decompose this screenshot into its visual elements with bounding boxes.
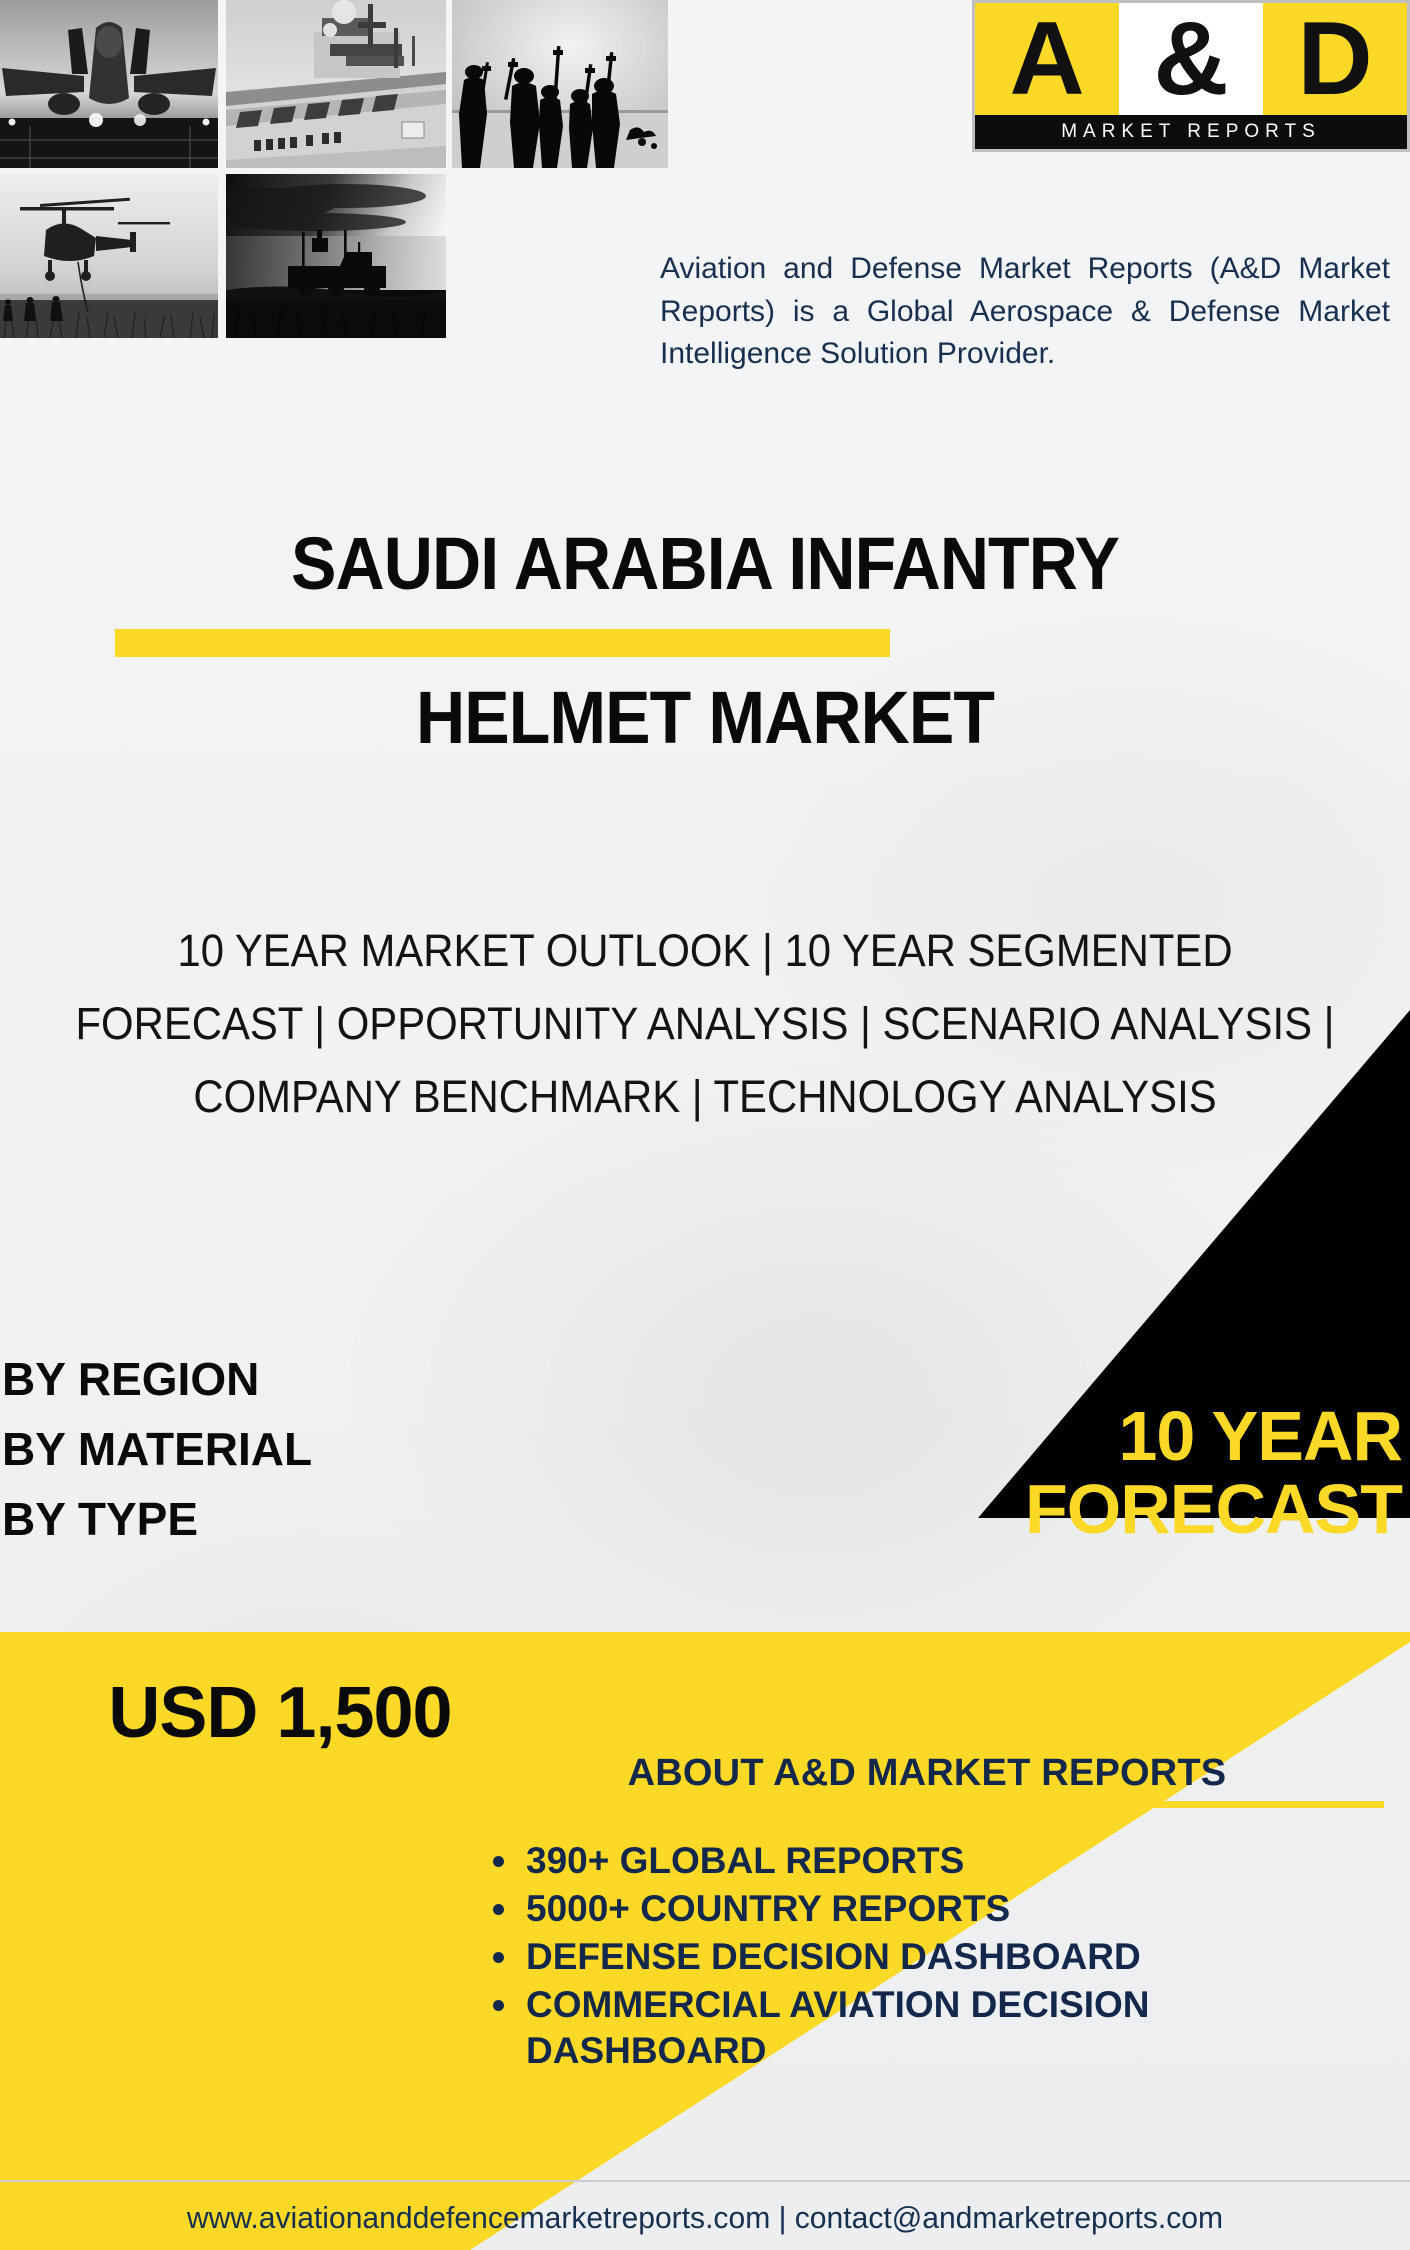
logo-letter-a: A xyxy=(975,3,1119,115)
title-line-1: SAUDI ARABIA INFANTRY xyxy=(56,525,1353,603)
photo-aircraft-carrier xyxy=(226,0,446,168)
forecast-badge: 10 YEAR FORECAST xyxy=(940,1400,1410,1546)
report-title: SAUDI ARABIA INFANTRY HELMET MARKET xyxy=(0,525,1410,756)
photo-grid xyxy=(0,0,668,338)
logo-ad-market-reports: A & D MARKET REPORTS xyxy=(972,0,1410,152)
logo-subtitle: MARKET REPORTS xyxy=(975,115,1407,149)
company-blurb: Aviation and Defense Market Reports (A&D… xyxy=(660,248,1390,376)
logo-letter-ampersand: & xyxy=(1119,3,1263,115)
segment-item: BY TYPE xyxy=(2,1485,620,1555)
about-list-item: COMMERCIAL AVIATION DECISION DASHBOARD xyxy=(522,1982,1392,2072)
report-scope-line: 10 YEAR MARKET OUTLOOK | 10 YEAR SEGMENT… xyxy=(68,915,1342,1134)
title-line-2: HELMET MARKET xyxy=(56,679,1353,757)
about-panel: ABOUT A&D MARKET REPORTS 390+ GLOBAL REP… xyxy=(462,1752,1392,2076)
photo-fighter-jet xyxy=(0,0,218,168)
photo-military-helicopter xyxy=(0,174,218,338)
segmentation-list: BY REGION BY MATERIAL BY TYPE xyxy=(0,1345,620,1555)
segment-item: BY REGION xyxy=(2,1345,620,1415)
title-yellow-rule xyxy=(115,629,890,657)
forecast-line-1: 10 YEAR xyxy=(940,1400,1402,1473)
photo-soldiers-patrol xyxy=(452,0,668,168)
about-heading: ABOUT A&D MARKET REPORTS xyxy=(462,1752,1392,1795)
about-feature-list: 390+ GLOBAL REPORTS 5000+ COUNTRY REPORT… xyxy=(462,1838,1392,2073)
about-list-item: DEFENSE DECISION DASHBOARD xyxy=(522,1934,1392,1979)
price-label: USD 1,500 xyxy=(0,1672,560,1754)
footer-divider xyxy=(0,2180,1410,2182)
logo-letter-d: D xyxy=(1263,3,1407,115)
forecast-line-2: FORECAST xyxy=(940,1473,1402,1546)
photo-armored-vehicle xyxy=(226,174,446,338)
segment-item: BY MATERIAL xyxy=(2,1415,620,1485)
about-list-item: 390+ GLOBAL REPORTS xyxy=(522,1838,1392,1883)
logo-letters: A & D xyxy=(975,3,1407,115)
about-underline xyxy=(470,1801,1384,1808)
about-list-item: 5000+ COUNTRY REPORTS xyxy=(522,1886,1392,1931)
footer-contact[interactable]: www.aviationanddefencemarketreports.com … xyxy=(21,2186,1389,2250)
